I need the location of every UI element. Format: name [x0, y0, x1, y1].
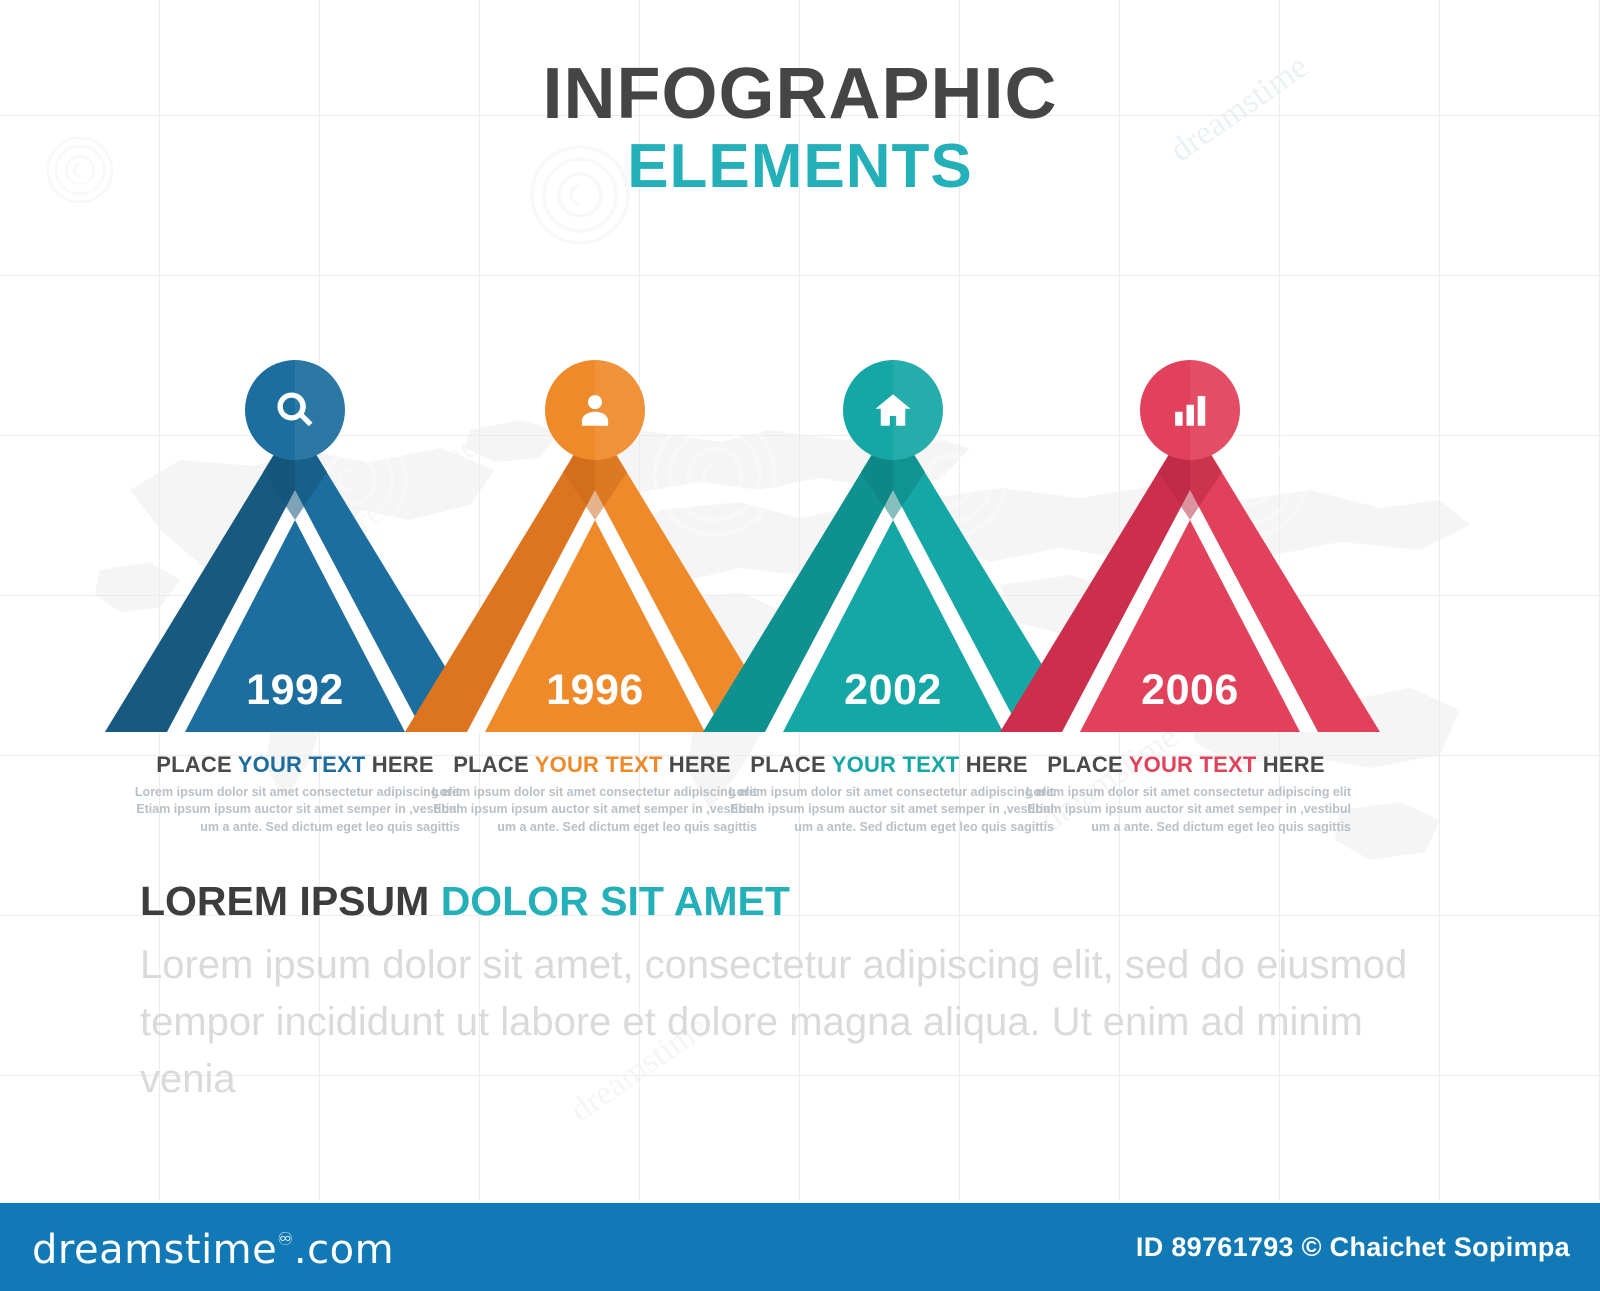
dreamstime-logo: dreamstime♾.com: [32, 1227, 394, 1273]
step-body-2006: Lorem ipsum dolor sit amet consectetur a…: [1021, 784, 1351, 836]
step-description-1996: PLACE YOUR TEXT HERE Lorem ipsum dolor s…: [427, 752, 757, 836]
step-body-2002: Lorem ipsum dolor sit amet consectetur a…: [724, 784, 1054, 836]
step-descriptions: PLACE YOUR TEXT HERE Lorem ipsum dolor s…: [0, 752, 1600, 862]
image-credit: ID 89761793 © Chaichet Sopimpa: [1136, 1232, 1570, 1263]
title-main: INFOGRAPHIC: [0, 58, 1600, 131]
step-heading-2006: PLACE YOUR TEXT HERE: [1021, 752, 1351, 778]
step-year-2006: 2006: [1000, 666, 1380, 715]
step-heading-2002: PLACE YOUR TEXT HERE: [724, 752, 1054, 778]
step-description-1992: PLACE YOUR TEXT HERE Lorem ipsum dolor s…: [130, 752, 460, 836]
step-icon-circle-2002[interactable]: [843, 360, 943, 460]
home-icon: [872, 389, 914, 431]
timeline-step-2006[interactable]: 2006: [1000, 360, 1380, 732]
user-icon: [574, 389, 616, 431]
step-description-2006: PLACE YOUR TEXT HERE Lorem ipsum dolor s…: [1021, 752, 1351, 836]
bar-chart-icon: [1169, 389, 1211, 431]
registered-spiral-icon: ♾: [277, 1229, 294, 1250]
step-icon-circle-1992[interactable]: [245, 360, 345, 460]
infographic-canvas: dreamstime dreamstime dreamstime dreamst…: [0, 0, 1600, 1291]
timeline-triangles: 1992: [0, 360, 1600, 732]
summary-heading: LOREM IPSUM DOLOR SIT AMET: [140, 878, 1460, 925]
footer-bar: dreamstime♾.com ID 89761793 © Chaichet S…: [0, 1203, 1600, 1291]
step-heading-1992: PLACE YOUR TEXT HERE: [130, 752, 460, 778]
summary-section: LOREM IPSUM DOLOR SIT AMET Lorem ipsum d…: [140, 878, 1460, 1107]
page-title: INFOGRAPHIC ELEMENTS: [0, 58, 1600, 203]
summary-paragraph: Lorem ipsum dolor sit amet, consectetur …: [140, 937, 1460, 1107]
step-icon-circle-2006[interactable]: [1140, 360, 1240, 460]
step-heading-1996: PLACE YOUR TEXT HERE: [427, 752, 757, 778]
search-icon: [274, 389, 316, 431]
step-icon-circle-1996[interactable]: [545, 360, 645, 460]
step-body-1992: Lorem ipsum dolor sit amet consectetur a…: [130, 784, 460, 836]
title-sub: ELEMENTS: [0, 131, 1600, 202]
step-body-1996: Lorem ipsum dolor sit amet consectetur a…: [427, 784, 757, 836]
step-description-2002: PLACE YOUR TEXT HERE Lorem ipsum dolor s…: [724, 752, 1054, 836]
